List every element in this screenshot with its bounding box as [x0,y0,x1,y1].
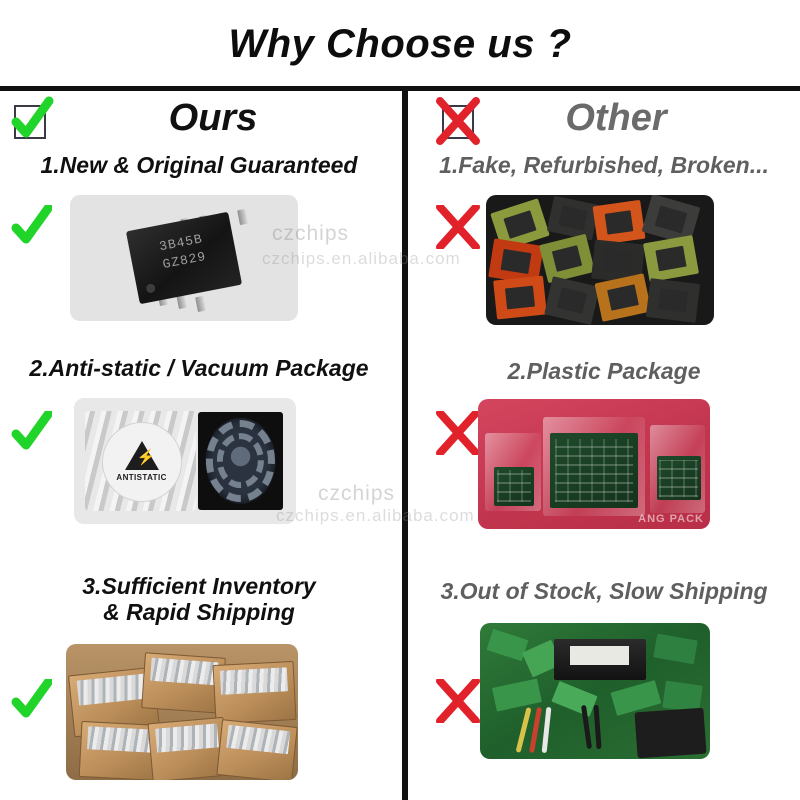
row-heading-ours-2: 2.Anti-static / Vacuum Package [0,356,398,382]
chip-pin [237,209,248,225]
row-other-3: 3.Out of Stock, Slow Shipping [408,579,800,605]
component-tray [198,412,282,510]
photo-pcb-scrap [480,623,710,759]
row-heading-other-3: 3.Out of Stock, Slow Shipping [408,579,800,605]
green-check-icon [8,205,52,249]
high-voltage-warning-icon [125,441,159,470]
scrap-chip [593,200,646,245]
pcb-texture [555,439,633,502]
check-glyph [8,411,52,455]
column-title-ours: Ours [0,97,398,140]
column-header-other: Other [408,91,800,153]
page-title: Why Choose us ? [0,22,800,67]
scrap-chip [646,278,701,323]
scrap-chip [539,234,595,283]
column-other: Other 1.Fake, Refurbished, Broken... [408,91,800,800]
scrap-chip [544,276,599,325]
scrap-chip [493,276,547,320]
pcb-fragment [551,681,598,717]
photo-plastic-packaged-pcbs: ANG PACK [478,399,710,529]
photo-packed-boxes [66,644,298,780]
black-board [635,708,707,759]
row-heading-other-2: 2.Plastic Package [408,359,800,385]
check-glyph [8,205,52,249]
chip-pin [195,296,206,312]
red-cross-icon [436,411,480,455]
row-heading-other-1: 1.Fake, Refurbished, Broken... [408,153,800,179]
scrap-chip [643,235,699,282]
red-cross-icon [436,205,480,249]
row-ours-1: 1.New & Original Guaranteed 3B45B GZ82 [0,153,398,179]
pcb-texture [659,460,698,497]
scrap-chip [594,273,651,322]
why-choose-us-comparison-graphic: Why Choose us ? Ours 1.New & Original Gu… [0,0,800,800]
ic-chip-body: 3B45B GZ829 [126,212,242,304]
green-check-icon [8,411,52,455]
pcb-small [657,456,701,500]
column-ours: Ours 1.New & Original Guaranteed [0,91,398,800]
column-header-ours: Ours [0,91,398,153]
red-cross-icon [436,679,480,723]
pcb-texture [497,470,532,503]
cross-glyph [436,205,480,249]
photo-scrap-cpus [486,195,714,325]
check-glyph [8,679,52,723]
pcb-small [494,467,533,506]
row-other-1: 1.Fake, Refurbished, Broken... [408,153,800,179]
photo-antistatic-package: ANTISTATIC [74,398,296,524]
row-ours-3: 3.Sufficient Inventory & Rapid Shipping [0,574,398,626]
cross-glyph [436,679,480,723]
wire [593,704,601,748]
wire [542,707,552,754]
cardboard-box [213,661,297,724]
pcb-fragment [492,678,542,711]
row-heading-ours-3-line-2: & Rapid Shipping [0,600,398,626]
scrap-chip [547,196,599,241]
row-other-2: 2.Plastic Package [408,359,800,385]
row-heading-ours-3-line-1: 3.Sufficient Inventory [0,574,398,600]
cardboard-box [216,719,298,780]
antistatic-bag: ANTISTATIC [85,411,196,512]
antistatic-label-text: ANTISTATIC [116,473,166,482]
pcb-fragment [487,629,529,661]
pcb-fragment [653,633,698,664]
row-ours-2: 2.Anti-static / Vacuum Package ANTISTATI… [0,356,398,382]
black-module [554,639,646,680]
pack-watermark-text: ANG PACK [638,513,704,525]
column-title-other: Other [408,97,800,140]
row-heading-ours-1: 1.New & Original Guaranteed [0,153,398,179]
antistatic-label: ANTISTATIC [102,422,182,502]
reel-disc [205,418,276,504]
green-check-icon [8,679,52,723]
pcb-large [550,433,638,508]
cross-glyph [436,411,480,455]
wire [529,707,542,753]
photo-ic-chip: 3B45B GZ829 [70,195,298,321]
